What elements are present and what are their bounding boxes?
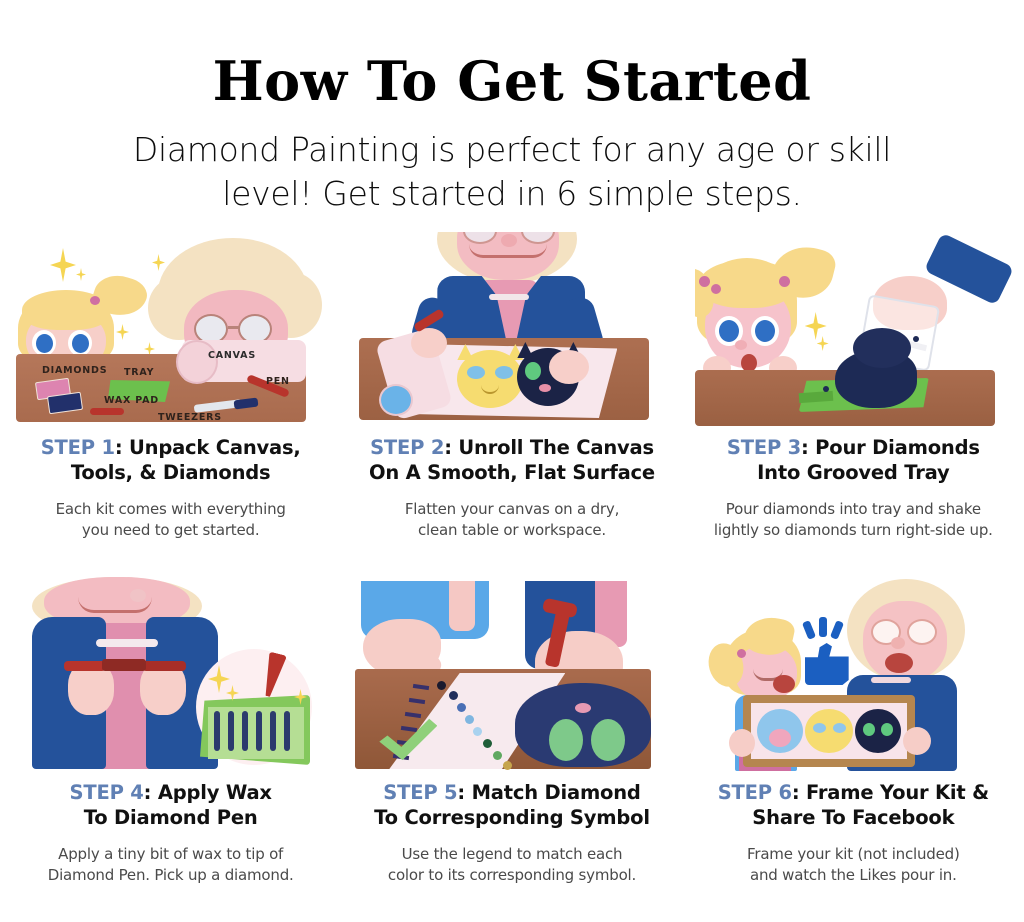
child-arm bbox=[449, 581, 475, 631]
step-label-2: STEP 2 bbox=[370, 436, 444, 459]
framed-cat-yellow-eye bbox=[833, 723, 846, 733]
framed-cat-yellow-eye bbox=[813, 723, 826, 733]
desc-line: clean table or workspace. bbox=[353, 520, 670, 541]
step-title-3: STEP 3: Pour Diamonds Into Grooved Tray bbox=[695, 436, 1012, 485]
grandma-nose bbox=[130, 589, 146, 602]
step-title-line-2: Into Grooved Tray bbox=[695, 461, 1012, 486]
step-title-4: STEP 4: Apply Wax To Diamond Pen bbox=[12, 781, 329, 830]
desc-line: you need to get started. bbox=[12, 520, 329, 541]
step-card-6: STEP 6: Frame Your Kit & Share To Facebo… bbox=[683, 577, 1024, 922]
desc-line: Apply a tiny bit of wax to tip of bbox=[12, 844, 329, 865]
pour-diamonds-illustration bbox=[695, 232, 1012, 430]
step-title-line-2: To Diamond Pen bbox=[12, 806, 329, 831]
pearl-necklace bbox=[96, 639, 158, 647]
framed-cat-yellow bbox=[805, 709, 853, 753]
canvas-roll-end bbox=[176, 340, 218, 384]
girl-eye-iris bbox=[755, 320, 775, 342]
desc-line: Use the legend to match each bbox=[353, 844, 670, 865]
framed-cat-black-eye bbox=[863, 723, 875, 736]
subtitle-line-2: level! Get started in 6 simple steps. bbox=[0, 172, 1024, 216]
pen-tip-left bbox=[64, 661, 106, 671]
sparkle-icon bbox=[805, 312, 827, 340]
girl-hand bbox=[729, 729, 755, 757]
girl-eye-iris bbox=[72, 334, 89, 353]
step-title-line-1: : Frame Your Kit & bbox=[792, 781, 989, 804]
step-title-line-1: : Unroll The Canvas bbox=[444, 436, 654, 459]
item-label-canvas: CANVAS bbox=[208, 350, 256, 361]
sparkle-icon bbox=[50, 248, 76, 282]
pearl-necklace bbox=[489, 294, 529, 300]
step-label-3: STEP 3 bbox=[727, 436, 801, 459]
step-desc-2: Flatten your canvas on a dry, clean tabl… bbox=[353, 499, 670, 542]
pen-tip-right bbox=[142, 661, 186, 671]
diamond-bead bbox=[823, 386, 829, 392]
step-title-line-2: Tools, & Diamonds bbox=[12, 461, 329, 486]
desc-line: Flatten your canvas on a dry, bbox=[353, 499, 670, 520]
tray-groove bbox=[284, 711, 290, 751]
step-card-2: STEP 2: Unroll The Canvas On A Smooth, F… bbox=[341, 232, 682, 577]
step-label-6: STEP 6 bbox=[718, 781, 792, 804]
desc-line: color to its corresponding symbol. bbox=[353, 865, 670, 886]
frame-kit-illustration bbox=[695, 577, 1012, 775]
tray-groove bbox=[214, 711, 220, 751]
glasses-lens bbox=[907, 619, 937, 645]
tray-groove bbox=[256, 711, 262, 751]
step-desc-1: Each kit comes with everything you need … bbox=[12, 499, 329, 542]
item-label-wax-pad: WAX PAD bbox=[104, 395, 159, 406]
page-title: How To Get Started bbox=[0, 54, 1024, 108]
step-title-line-1: : Apply Wax bbox=[144, 781, 272, 804]
step-title-5: STEP 5: Match Diamond To Corresponding S… bbox=[353, 781, 670, 830]
infographic-page: How To Get Started Diamond Painting is p… bbox=[0, 0, 1024, 922]
sparkle-icon bbox=[76, 268, 86, 281]
diamond-bead bbox=[913, 336, 919, 342]
desc-line: Each kit comes with everything bbox=[12, 499, 329, 520]
pearl-necklace bbox=[871, 677, 911, 683]
desc-line: and watch the Likes pour in. bbox=[695, 865, 1012, 886]
wax-pad bbox=[90, 408, 124, 415]
grandma-open-mouth bbox=[885, 653, 913, 673]
item-label-pen: PEN bbox=[266, 376, 290, 387]
emphasis-line bbox=[819, 617, 827, 637]
subtitle-line-1: Diamond Painting is perfect for any age … bbox=[0, 128, 1024, 172]
match-symbol-illustration bbox=[353, 577, 670, 775]
diamond-stream bbox=[853, 328, 911, 368]
step-title-line-2: On A Smooth, Flat Surface bbox=[353, 461, 670, 486]
step-title-2: STEP 2: Unroll The Canvas On A Smooth, F… bbox=[353, 436, 670, 485]
desc-line: Diamond Pen. Pick up a diamond. bbox=[12, 865, 329, 886]
framed-cat-black bbox=[855, 709, 901, 753]
step-card-1: CANVAS DIAMONDS TRAY WAX PAD TWEEZERS bbox=[0, 232, 341, 577]
step-label-5: STEP 5 bbox=[383, 781, 457, 804]
step-title-line-2: To Corresponding Symbol bbox=[353, 806, 670, 831]
girl-nose bbox=[735, 340, 747, 350]
step-desc-3: Pour diamonds into tray and shake lightl… bbox=[695, 499, 1012, 542]
framed-cat-blue-mouth bbox=[769, 729, 791, 747]
hair-tie bbox=[699, 276, 710, 287]
unpack-canvas-illustration: CANVAS DIAMONDS TRAY WAX PAD TWEEZERS bbox=[12, 232, 329, 430]
step-label-4: STEP 4 bbox=[70, 781, 144, 804]
grandma-hand bbox=[903, 727, 931, 755]
page-subtitle: Diamond Painting is perfect for any age … bbox=[0, 128, 1024, 215]
step-desc-5: Use the legend to match each color to it… bbox=[353, 844, 670, 887]
desc-line: Frame your kit (not included) bbox=[695, 844, 1012, 865]
tray-groove bbox=[270, 711, 276, 751]
step-title-6: STEP 6: Frame Your Kit & Share To Facebo… bbox=[695, 781, 1012, 830]
step-title-line-1: : Pour Diamonds bbox=[801, 436, 980, 459]
tray-groove bbox=[228, 711, 234, 751]
girl-eye-iris bbox=[719, 320, 739, 342]
item-label-diamonds: DIAMONDS bbox=[42, 365, 107, 376]
emphasis-line bbox=[830, 620, 844, 640]
hair-tie bbox=[737, 649, 746, 658]
step-title-line-1: : Unpack Canvas, bbox=[115, 436, 301, 459]
girl-eye-iris bbox=[36, 334, 53, 353]
emphasis-line bbox=[802, 620, 816, 640]
grandma-nose bbox=[891, 637, 905, 649]
desc-line: lightly so diamonds turn right-side up. bbox=[695, 520, 1012, 541]
step-card-5: STEP 5: Match Diamond To Corresponding S… bbox=[341, 577, 682, 922]
sparkle-icon bbox=[116, 324, 129, 340]
step-desc-4: Apply a tiny bit of wax to tip of Diamon… bbox=[12, 844, 329, 887]
step-desc-6: Frame your kit (not included) and watch … bbox=[695, 844, 1012, 887]
item-label-tray: TRAY bbox=[124, 367, 154, 378]
hair-tie bbox=[90, 296, 100, 305]
step-card-3: STEP 3: Pour Diamonds Into Grooved Tray … bbox=[683, 232, 1024, 577]
step-title-line-2: Share To Facebook bbox=[695, 806, 1012, 831]
sparkle-icon bbox=[152, 254, 165, 271]
diamond-pen-body bbox=[102, 659, 146, 671]
sparkle-icon bbox=[817, 336, 829, 351]
cat-canvas-navy bbox=[515, 683, 651, 767]
header: How To Get Started Diamond Painting is p… bbox=[0, 0, 1024, 215]
apply-wax-illustration bbox=[12, 577, 329, 775]
step-card-4: STEP 4: Apply Wax To Diamond Pen Apply a… bbox=[0, 577, 341, 922]
thumbs-up-icon bbox=[805, 643, 849, 685]
hair-tie bbox=[711, 284, 721, 294]
desc-line: Pour diamonds into tray and shake bbox=[695, 499, 1012, 520]
step-title-line-1: : Match Diamond bbox=[457, 781, 640, 804]
framed-cat-black-eye bbox=[881, 723, 893, 736]
step-title-1: STEP 1: Unpack Canvas, Tools, & Diamonds bbox=[12, 436, 329, 485]
tray-groove bbox=[242, 711, 248, 751]
unroll-canvas-illustration bbox=[353, 232, 670, 430]
hair-tie bbox=[779, 276, 790, 287]
step-label-1: STEP 1 bbox=[41, 436, 115, 459]
girl-open-mouth bbox=[773, 675, 795, 693]
steps-grid: CANVAS DIAMONDS TRAY WAX PAD TWEEZERS bbox=[0, 232, 1024, 922]
item-label-tweezers: TWEEZERS bbox=[158, 412, 222, 423]
glasses-bridge bbox=[228, 326, 240, 329]
